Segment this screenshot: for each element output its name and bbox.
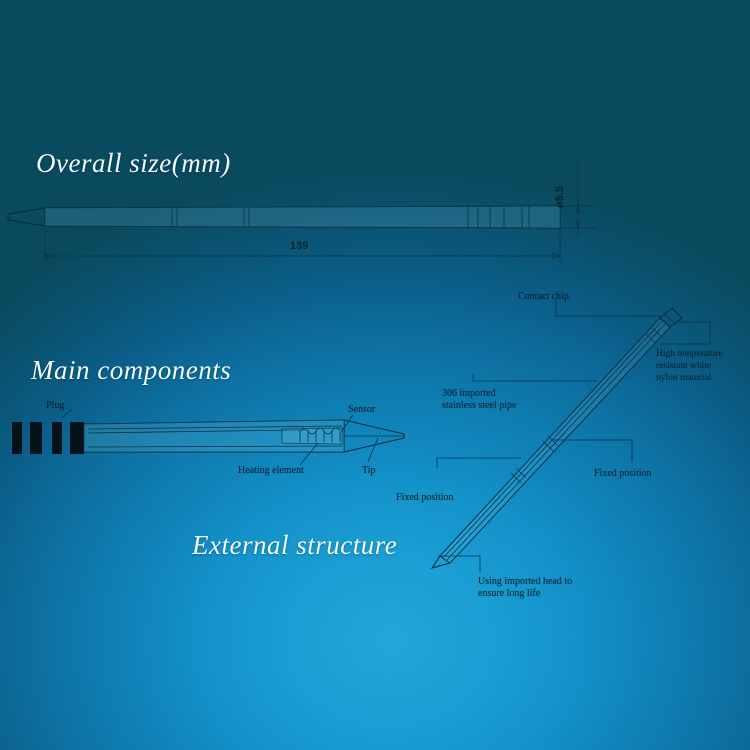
label-fixed-position-left: Fixed position: [396, 492, 454, 505]
label-steel-pipe-line-1: 306 imported: [442, 388, 496, 401]
dimension-diameter-5-5: ø5.5: [554, 186, 566, 208]
label-sensor: Sensor: [348, 404, 375, 417]
label-nylon-material-line-3: nylon material: [656, 372, 711, 385]
label-imported-head-line-1: Using imported head to: [478, 576, 572, 589]
product-spec-diagram: Overall size(mm) Main components Externa…: [0, 0, 750, 750]
dimension-length-139: 139: [290, 240, 308, 252]
label-plug: Plug: [46, 400, 64, 413]
label-nylon-material-line-2: resistant white: [656, 360, 711, 373]
main-components-drawing: [12, 409, 404, 465]
label-tip: Tip: [362, 465, 376, 478]
label-fixed-position-right: Fixed position: [594, 468, 652, 481]
technical-drawing-canvas: [0, 0, 750, 750]
label-steel-pipe-line-2: stainless steel pipe: [442, 400, 516, 413]
label-heating-element: Heating element: [238, 465, 304, 478]
external-structure-drawing: [432, 300, 710, 572]
label-imported-head-line-2: ensure long life: [478, 588, 540, 601]
label-nylon-material-line-1: High temperature: [656, 348, 723, 361]
label-contact-chip: Contact chip: [518, 291, 569, 304]
